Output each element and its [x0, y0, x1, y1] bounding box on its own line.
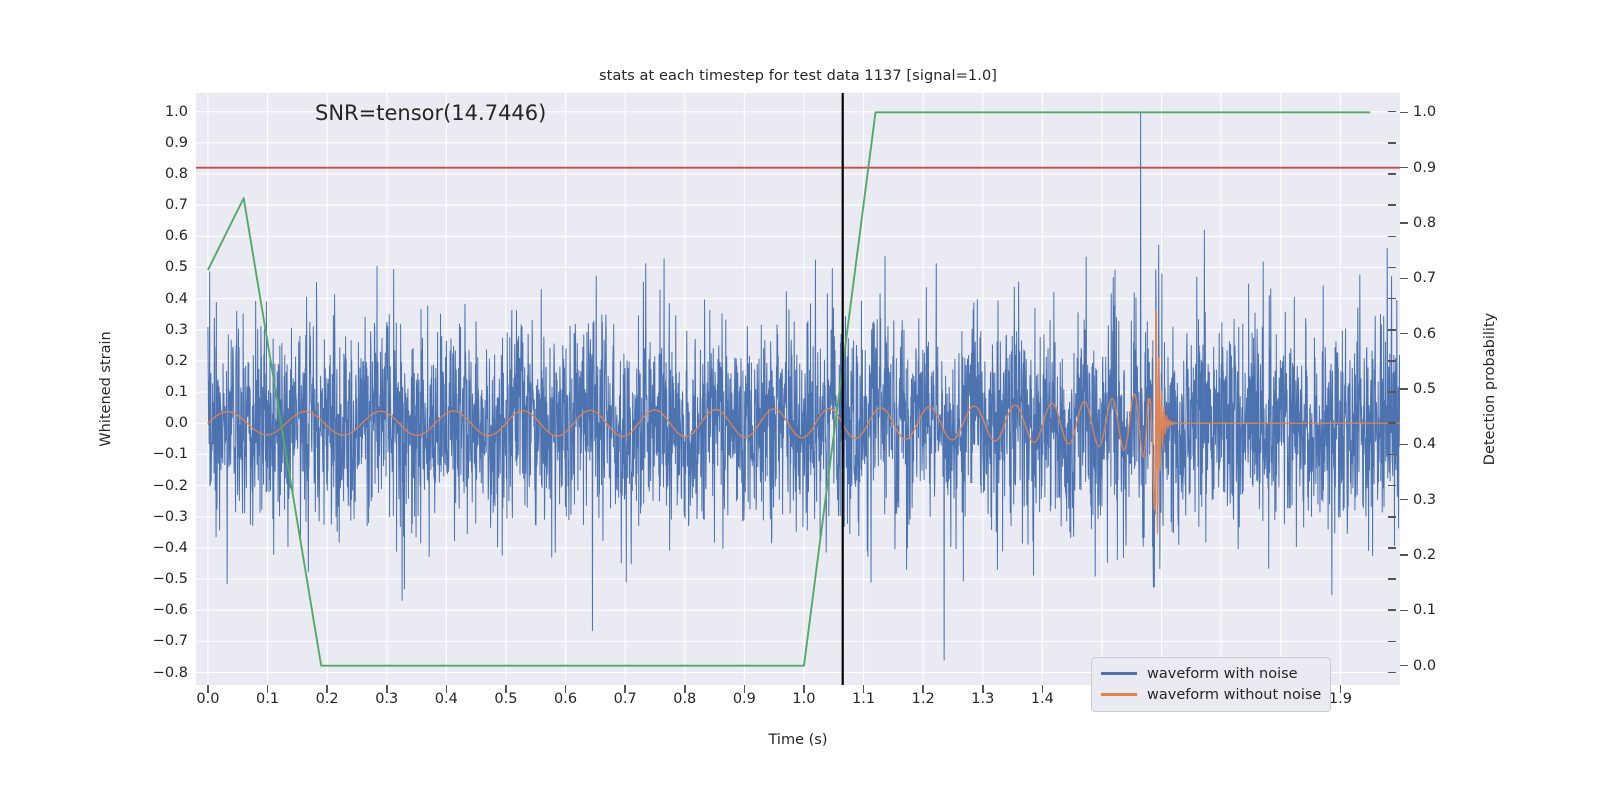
x-axis-tick-mark [803, 685, 805, 693]
x-axis-tick-mark [1042, 685, 1044, 693]
y-axis-tick-label-right: 0.3 [1413, 492, 1436, 508]
y-axis-tick-mark-left [1388, 422, 1396, 424]
legend-item: waveform with noise [1101, 663, 1321, 684]
y-axis-tick-label-left: −0.3 [153, 509, 188, 525]
y-axis-tick-mark-left [1388, 391, 1396, 393]
y-axis-tick-label-left: 0.1 [165, 384, 188, 400]
y-axis-label-right: Detection probability [1482, 313, 1498, 465]
y-axis-tick-label-right: 0.4 [1413, 436, 1436, 452]
y-axis-tick-mark-left [1388, 142, 1396, 144]
x-axis-tick-mark [982, 685, 984, 693]
y-axis-tick-mark-left [1388, 609, 1396, 611]
x-axis-tick-label: 0.6 [554, 691, 577, 707]
y-axis-tick-label-left: −0.6 [153, 602, 188, 618]
waveform-with-noise-line [208, 112, 1400, 660]
y-axis-tick-mark-left [1388, 578, 1396, 580]
x-axis-tick-mark [446, 685, 448, 693]
x-axis-tick-label: 0.4 [435, 691, 458, 707]
legend-swatch-waveform-without-noise [1101, 693, 1137, 695]
y-axis-tick-mark-left [1388, 236, 1396, 238]
y-axis-tick-label-right: 0.8 [1413, 215, 1436, 231]
legend-box: waveform with noise waveform without noi… [1091, 657, 1331, 712]
y-axis-tick-mark-right [1400, 278, 1408, 280]
x-axis-tick-label: 0.7 [614, 691, 637, 707]
x-axis-tick-label: 0.5 [494, 691, 517, 707]
y-axis-tick-label-left: −0.8 [153, 665, 188, 681]
x-axis-tick-label: 0.2 [316, 691, 339, 707]
y-axis-tick-mark-right [1400, 167, 1408, 169]
x-axis-tick-mark [624, 685, 626, 693]
snr-annotation: SNR=tensor(14.7446) [315, 101, 546, 125]
plot-title: stats at each timestep for test data 113… [196, 68, 1400, 84]
x-axis-tick-mark [505, 685, 507, 693]
y-axis-tick-mark-right [1400, 499, 1408, 501]
y-axis-tick-mark-left [1388, 641, 1396, 643]
x-axis-tick-label: 0.1 [256, 691, 279, 707]
figure-canvas: stats at each timestep for test data 113… [0, 0, 1600, 800]
y-axis-tick-label-right: 0.5 [1413, 381, 1436, 397]
y-axis-tick-mark-right [1400, 333, 1408, 335]
x-axis-tick-mark [267, 685, 269, 693]
y-axis-tick-mark-right [1400, 112, 1408, 114]
x-axis-tick-label: 0.9 [733, 691, 756, 707]
y-axis-tick-mark-left [1388, 360, 1396, 362]
legend-swatch-waveform-with-noise [1101, 672, 1137, 674]
y-axis-tick-label-left: −0.5 [153, 571, 188, 587]
x-axis-tick-mark [386, 685, 388, 693]
y-axis-tick-label-left: 0.9 [165, 135, 188, 151]
x-axis-tick-mark [1340, 685, 1342, 693]
y-axis-tick-mark-right [1400, 554, 1408, 556]
y-axis-tick-mark-left [1388, 298, 1396, 300]
y-axis-tick-label-left: −0.1 [153, 446, 188, 462]
y-axis-tick-label-left: −0.2 [153, 478, 188, 494]
y-axis-tick-mark-left [1388, 173, 1396, 175]
y-axis-tick-label-left: −0.7 [153, 633, 188, 649]
y-axis-tick-label-left: 0.0 [165, 415, 188, 431]
y-axis-tick-mark-left [1388, 111, 1396, 113]
y-axis-tick-label-left: 0.5 [165, 259, 188, 275]
y-axis-tick-label-left: −0.4 [153, 540, 188, 556]
y-axis-tick-mark-right [1400, 444, 1408, 446]
x-axis-tick-label: 0.3 [375, 691, 398, 707]
y-axis-tick-label-left: 0.7 [165, 197, 188, 213]
x-axis-label: Time (s) [769, 732, 828, 748]
legend-label: waveform with noise [1147, 666, 1298, 682]
y-axis-tick-label-left: 0.2 [165, 353, 188, 369]
x-axis-tick-label: 1.3 [971, 691, 994, 707]
y-axis-tick-label-right: 0.7 [1413, 270, 1436, 286]
y-axis-tick-label-right: 0.1 [1413, 602, 1436, 618]
y-axis-tick-label-right: 0.9 [1413, 160, 1436, 176]
x-axis-tick-label: 1.2 [912, 691, 935, 707]
y-axis-tick-mark-left [1388, 454, 1396, 456]
y-axis-tick-mark-left [1388, 547, 1396, 549]
x-axis-tick-mark [565, 685, 567, 693]
y-axis-tick-label-right: 0.0 [1413, 658, 1436, 674]
y-axis-tick-mark-right [1400, 610, 1408, 612]
y-axis-tick-mark-left [1388, 204, 1396, 206]
y-axis-tick-mark-right [1400, 388, 1408, 390]
y-axis-tick-label-left: 0.3 [165, 322, 188, 338]
data-layer [196, 93, 1400, 685]
y-axis-tick-label-left: 1.0 [165, 104, 188, 120]
y-axis-tick-label-left: 0.6 [165, 228, 188, 244]
y-axis-tick-label-left: 0.8 [165, 166, 188, 182]
x-axis-tick-mark [684, 685, 686, 693]
y-axis-tick-mark-left [1388, 267, 1396, 269]
y-axis-tick-mark-left [1388, 516, 1396, 518]
y-axis-tick-label-right: 0.6 [1413, 326, 1436, 342]
x-axis-tick-label: 1.4 [1031, 691, 1054, 707]
y-axis-tick-mark-right [1400, 222, 1408, 224]
y-axis-label-left: Whitened strain [98, 331, 114, 446]
x-axis-tick-mark [922, 685, 924, 693]
legend-item: waveform without noise [1101, 684, 1321, 705]
y-axis-tick-mark-right [1400, 665, 1408, 667]
x-axis-tick-mark [863, 685, 865, 693]
y-axis-tick-mark-left [1388, 672, 1396, 674]
x-axis-tick-mark [207, 685, 209, 693]
x-axis-tick-label: 0.8 [673, 691, 696, 707]
y-axis-tick-label-right: 0.2 [1413, 547, 1436, 563]
plot-axes-area [196, 93, 1400, 685]
y-axis-tick-label-right: 1.0 [1413, 104, 1436, 120]
x-axis-tick-mark [326, 685, 328, 693]
y-axis-tick-mark-left [1388, 485, 1396, 487]
y-axis-tick-label-left: 0.4 [165, 291, 188, 307]
legend-label: waveform without noise [1147, 687, 1321, 703]
x-axis-tick-label: 1.0 [792, 691, 815, 707]
y-axis-tick-mark-left [1388, 329, 1396, 331]
x-axis-tick-label: 1.9 [1329, 691, 1352, 707]
x-axis-tick-mark [744, 685, 746, 693]
x-axis-tick-label: 0.0 [196, 691, 219, 707]
x-axis-tick-label: 1.1 [852, 691, 875, 707]
